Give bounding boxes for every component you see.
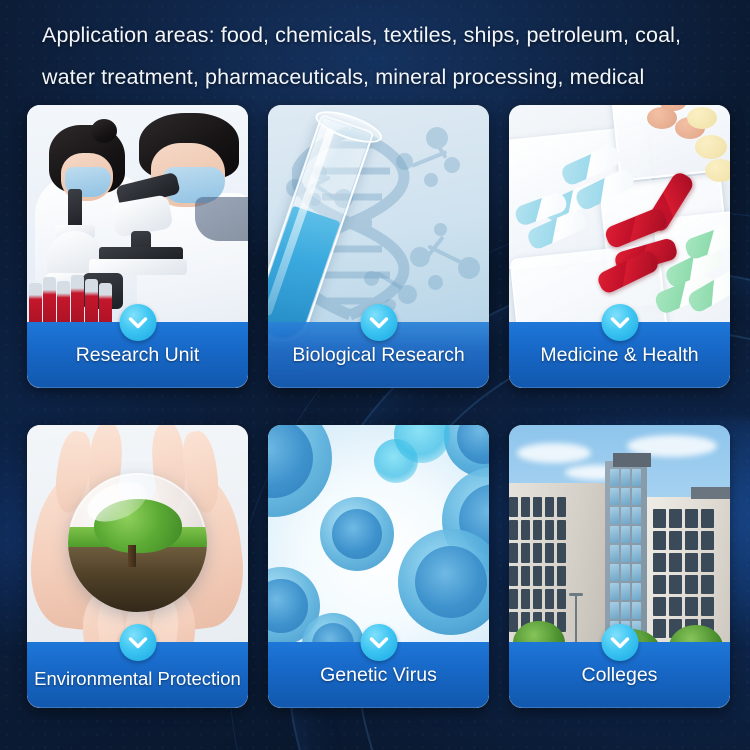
header-line-1: Application areas: food, chemicals, text… [42,14,708,56]
header-line-2: water treatment, pharmaceuticals, minera… [42,56,708,98]
card-label-genetic-virus: Genetic Virus [320,663,437,687]
card-label-bar[interactable]: Genetic Virus [268,642,489,708]
card-label-environmental-protection: Environmental Protection [34,664,241,694]
header: Application areas: food, chemicals, text… [0,0,750,98]
card-label-bar[interactable]: Research Unit [27,322,248,388]
card-label-bar[interactable]: Biological Research [268,322,489,388]
card-colleges[interactable]: Colleges [509,425,730,708]
card-environmental-protection[interactable]: Environmental Protection [27,425,248,708]
chevron-down-icon[interactable] [360,624,397,661]
chevron-down-icon[interactable] [360,304,397,341]
card-research-unit[interactable]: Research Unit [27,105,248,388]
application-areas-banner: Application areas: food, chemicals, text… [0,0,750,750]
card-label-biological-research: Biological Research [292,343,464,367]
chevron-down-icon[interactable] [601,624,638,661]
card-label-bar[interactable]: Environmental Protection [27,642,248,708]
card-biological-research[interactable]: Biological Research [268,105,489,388]
card-genetic-virus[interactable]: Genetic Virus [268,425,489,708]
chevron-down-icon[interactable] [119,304,156,341]
chevron-down-icon[interactable] [119,624,156,661]
card-label-colleges: Colleges [582,663,658,687]
card-label-bar[interactable]: Medicine & Health [509,322,730,388]
card-label-bar[interactable]: Colleges [509,642,730,708]
card-label-medicine-health: Medicine & Health [540,343,698,367]
chevron-down-icon[interactable] [601,304,638,341]
application-card-grid: Research Unit [27,105,729,708]
card-label-research-unit: Research Unit [76,343,200,367]
card-medicine-health[interactable]: Medicine & Health [509,105,730,388]
